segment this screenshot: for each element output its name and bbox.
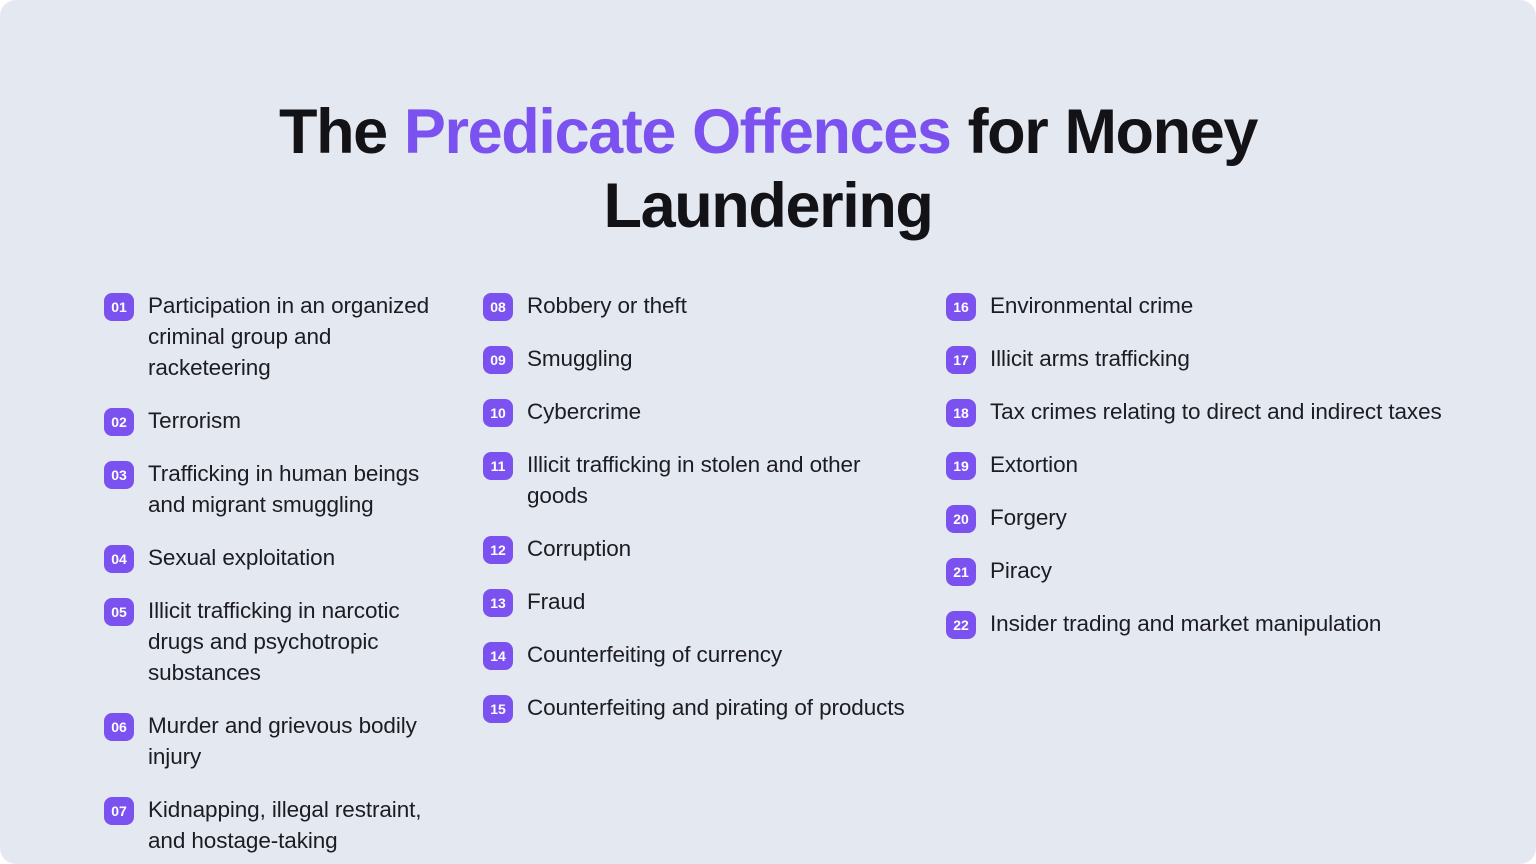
item-label: Cybercrime — [527, 396, 641, 427]
list-item: 20Forgery — [946, 502, 1496, 533]
item-number-badge: 14 — [483, 642, 513, 670]
list-item: 21Piracy — [946, 555, 1496, 586]
item-label: Extortion — [990, 449, 1078, 480]
item-number-badge: 11 — [483, 452, 513, 480]
list-item: 19Extortion — [946, 449, 1496, 480]
infographic-canvas: The Predicate Offences for Money Launder… — [0, 0, 1536, 864]
list-item: 01Participation in an organized criminal… — [104, 290, 444, 383]
item-number-badge: 10 — [483, 399, 513, 427]
item-label: Fraud — [527, 586, 585, 617]
item-label: Corruption — [527, 533, 631, 564]
item-number-badge: 08 — [483, 293, 513, 321]
item-label: Insider trading and market manipulation — [990, 608, 1381, 639]
item-number-badge: 12 — [483, 536, 513, 564]
item-label: Environmental crime — [990, 290, 1193, 321]
list-item: 12Corruption — [483, 533, 906, 564]
item-number-badge: 22 — [946, 611, 976, 639]
item-number-badge: 20 — [946, 505, 976, 533]
item-label: Terrorism — [148, 405, 241, 436]
item-number-badge: 05 — [104, 598, 134, 626]
list-item: 17Illicit arms trafficking — [946, 343, 1496, 374]
item-number-badge: 03 — [104, 461, 134, 489]
item-number-badge: 04 — [104, 545, 134, 573]
item-label: Tax crimes relating to direct and indire… — [990, 396, 1442, 427]
list-item: 11Illicit trafficking in stolen and othe… — [483, 449, 906, 511]
item-number-badge: 16 — [946, 293, 976, 321]
item-number-badge: 13 — [483, 589, 513, 617]
offences-column-2: 08Robbery or theft09Smuggling10Cybercrim… — [462, 290, 924, 745]
item-number-badge: 17 — [946, 346, 976, 374]
offences-columns: 01Participation in an organized criminal… — [0, 290, 1536, 864]
title-accent: Predicate Offences — [404, 97, 951, 167]
item-label: Sexual exploitation — [148, 542, 335, 573]
item-label: Illicit trafficking in narcotic drugs an… — [148, 595, 444, 688]
item-number-badge: 01 — [104, 293, 134, 321]
item-label: Counterfeiting and pirating of products — [527, 692, 905, 723]
list-item: 13Fraud — [483, 586, 906, 617]
item-number-badge: 15 — [483, 695, 513, 723]
item-number-badge: 07 — [104, 797, 134, 825]
list-item: 14Counterfeiting of currency — [483, 639, 906, 670]
item-label: Smuggling — [527, 343, 632, 374]
item-label: Participation in an organized criminal g… — [148, 290, 444, 383]
item-label: Kidnapping, illegal restraint, and hosta… — [148, 794, 444, 856]
item-label: Piracy — [990, 555, 1052, 586]
list-item: 06Murder and grievous bodily injury — [104, 710, 444, 772]
item-number-badge: 21 — [946, 558, 976, 586]
offences-column-3: 16Environmental crime17Illicit arms traf… — [924, 290, 1536, 661]
item-label: Illicit arms trafficking — [990, 343, 1190, 374]
item-label: Murder and grievous bodily injury — [148, 710, 444, 772]
page-title: The Predicate Offences for Money Launder… — [110, 96, 1426, 243]
item-number-badge: 09 — [483, 346, 513, 374]
item-label: Trafficking in human beings and migrant … — [148, 458, 444, 520]
list-item: 16Environmental crime — [946, 290, 1496, 321]
item-number-badge: 19 — [946, 452, 976, 480]
title-part-1: The — [279, 97, 404, 167]
list-item: 10Cybercrime — [483, 396, 906, 427]
item-number-badge: 02 — [104, 408, 134, 436]
title-block: The Predicate Offences for Money Launder… — [110, 96, 1426, 243]
list-item: 22Insider trading and market manipulatio… — [946, 608, 1496, 639]
item-label: Illicit trafficking in stolen and other … — [527, 449, 906, 511]
item-number-badge: 06 — [104, 713, 134, 741]
item-number-badge: 18 — [946, 399, 976, 427]
list-item: 02Terrorism — [104, 405, 444, 436]
item-label: Robbery or theft — [527, 290, 687, 321]
list-item: 03Trafficking in human beings and migran… — [104, 458, 444, 520]
list-item: 18Tax crimes relating to direct and indi… — [946, 396, 1496, 427]
list-item: 05Illicit trafficking in narcotic drugs … — [104, 595, 444, 688]
list-item: 08Robbery or theft — [483, 290, 906, 321]
list-item: 15Counterfeiting and pirating of product… — [483, 692, 906, 723]
list-item: 09Smuggling — [483, 343, 906, 374]
item-label: Forgery — [990, 502, 1067, 533]
list-item: 04Sexual exploitation — [104, 542, 444, 573]
item-label: Counterfeiting of currency — [527, 639, 782, 670]
offences-column-1: 01Participation in an organized criminal… — [0, 290, 462, 864]
list-item: 07Kidnapping, illegal restraint, and hos… — [104, 794, 444, 856]
